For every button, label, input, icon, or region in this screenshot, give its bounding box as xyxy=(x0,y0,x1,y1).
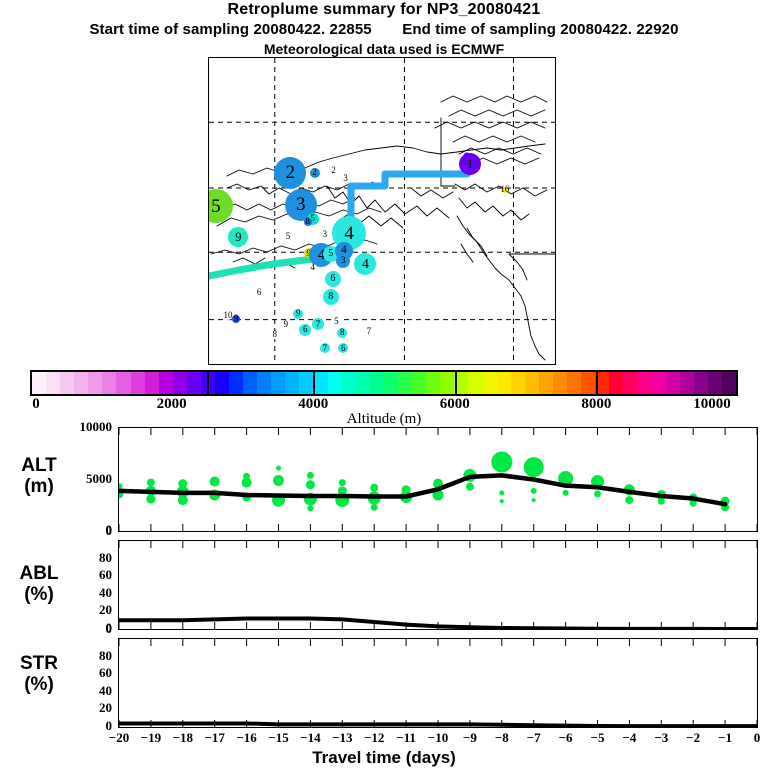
alt-scatter-dot xyxy=(147,479,155,487)
map-marker-1: 1 xyxy=(459,153,481,175)
map-marker-5: 5 xyxy=(282,230,294,242)
x-tick-label: −15 xyxy=(268,730,288,746)
colorbar-swatch-44 xyxy=(651,372,665,394)
x-axis-title: Travel time (days) xyxy=(0,748,768,768)
colorbar-swatch-49 xyxy=(722,372,736,394)
page-title: Retroplume summary for NP3_20080421 xyxy=(0,0,768,20)
alt-scatter-dot xyxy=(146,495,155,504)
sampling-times: Start time of sampling 20080422. 22855 E… xyxy=(0,20,768,40)
colorbar-swatch-17 xyxy=(271,372,285,394)
map-marker-label: 7 xyxy=(323,344,328,353)
map-marker-label: 3 xyxy=(343,174,348,183)
map-marker-5: 5 xyxy=(331,316,341,326)
x-tick-label: −2 xyxy=(686,730,700,746)
map-marker-label: 9 xyxy=(296,309,301,318)
alt-scatter-dot xyxy=(594,490,601,497)
abl-plot-panel[interactable] xyxy=(118,540,758,630)
colorbar-swatch-18 xyxy=(285,372,299,394)
y-tick-label: 60 xyxy=(64,567,112,583)
colorbar-swatch-8 xyxy=(145,372,159,394)
x-tick-label: −12 xyxy=(364,730,384,746)
map-marker-label: 5 xyxy=(286,232,291,241)
end-time-label: End time of sampling 20080422. 22920 xyxy=(402,21,678,38)
alt-scatter-dot xyxy=(371,504,378,511)
x-tick-label: −4 xyxy=(622,730,636,746)
colorbar-swatch-27 xyxy=(412,372,426,394)
alt-scatter-dot xyxy=(276,466,281,471)
map-marker-6: 6 xyxy=(299,324,311,336)
colorbar-divider xyxy=(313,370,315,396)
map-marker-2: 2 xyxy=(310,168,320,178)
colorbar-swatch-4 xyxy=(88,372,102,394)
colorbar-swatch-46 xyxy=(680,372,694,394)
map-marker-label: 2 xyxy=(312,168,317,177)
map-marker-label: 1 xyxy=(467,157,474,171)
map-marker-label: 7 xyxy=(367,327,372,336)
colorbar-swatch-25 xyxy=(384,372,398,394)
alt-scatter-dot xyxy=(625,496,633,504)
colorbar-swatch-20 xyxy=(314,372,328,394)
alt-scatter-dot xyxy=(307,505,313,511)
alt-scatter-dot xyxy=(499,490,504,495)
map-marker-label: 2 xyxy=(331,166,336,175)
alt-plot-svg xyxy=(119,428,757,531)
alt-scatter-dot xyxy=(532,498,536,502)
colorbar-swatch-9 xyxy=(159,372,173,394)
colorbar-swatch-13 xyxy=(215,372,229,394)
y-tick-label: 10000 xyxy=(64,419,112,435)
abl-axis-label: ABL (%) xyxy=(6,563,72,605)
y-tick-label: 40 xyxy=(64,683,112,699)
x-tick-label: −17 xyxy=(204,730,224,746)
map-marker-label: 8 xyxy=(340,328,345,337)
colorbar-divider xyxy=(207,370,209,396)
y-tick-label: 20 xyxy=(64,700,112,716)
map-coastline-svg xyxy=(209,58,555,364)
map-marker-label: 5 xyxy=(328,249,333,259)
colorbar-swatch-3 xyxy=(74,372,88,394)
x-tick-label: −18 xyxy=(173,730,193,746)
map-marker-label: 9 xyxy=(235,231,241,244)
colorbar-swatch-43 xyxy=(637,372,651,394)
map-marker-6: 6 xyxy=(325,271,341,287)
alt-scatter-dot xyxy=(306,480,315,489)
map-marker-label: 6 xyxy=(303,325,308,334)
colorbar-swatch-38 xyxy=(567,372,581,394)
map-marker-6: 6 xyxy=(255,289,263,297)
colorbar-swatch-45 xyxy=(666,372,680,394)
str-plot-svg xyxy=(119,639,757,727)
colorbar-swatch-32 xyxy=(483,372,497,394)
y-tick-label-top: 0 xyxy=(64,621,112,637)
map-marker-label: 5 xyxy=(334,317,339,326)
colorbar-swatch-23 xyxy=(356,372,370,394)
map-marker-4: 4 xyxy=(354,253,376,275)
x-tick-label: −1 xyxy=(718,730,732,746)
x-tick-label: −3 xyxy=(654,730,668,746)
colorbar-swatch-16 xyxy=(257,372,271,394)
map-marker-label: 16 xyxy=(500,185,509,194)
met-data-label: Meteorological data used is ECMWF xyxy=(0,40,768,58)
alt-scatter-dot xyxy=(531,488,537,494)
map-marker-label: 6 xyxy=(341,344,346,353)
str-plot-panel[interactable] xyxy=(118,638,758,728)
map-marker-6: 6 xyxy=(338,343,348,353)
alt-axis-label: ALT (m) xyxy=(6,455,72,497)
colorbar-swatch-2 xyxy=(60,372,74,394)
y-tick-label: 0 xyxy=(64,718,112,734)
map-marker-8: 8 xyxy=(337,328,347,338)
map-marker-label: 4 xyxy=(311,263,316,272)
colorbar-swatch-5 xyxy=(102,372,116,394)
start-time-label: Start time of sampling 20080422. 22855 xyxy=(89,21,371,38)
alt-scatter-dot xyxy=(242,478,252,488)
colorbar-swatch-37 xyxy=(553,372,567,394)
colorbar-swatch-0 xyxy=(32,372,46,394)
x-tick-label: −9 xyxy=(463,730,477,746)
map-marker-16: 16 xyxy=(502,187,508,193)
alt-scatter-dot xyxy=(524,457,544,477)
colorbar-swatch-19 xyxy=(299,372,313,394)
alt-scatter-dot xyxy=(178,495,188,505)
map-marker-8: 8 xyxy=(304,218,312,226)
y-tick-label: 40 xyxy=(64,585,112,601)
map-marker-2: 2 xyxy=(328,165,340,177)
map-gridlines xyxy=(209,58,555,364)
map-marker-3: 3 xyxy=(336,254,350,268)
map-marker-label: 4 xyxy=(362,257,369,271)
x-tick-label: −6 xyxy=(559,730,573,746)
map-marker-9: 9 xyxy=(282,321,290,329)
map-marker-label: 3 xyxy=(296,195,306,214)
colorbar-divider xyxy=(596,370,598,396)
map-marker-label: 5 xyxy=(211,197,221,216)
alt-scatter-dot xyxy=(491,451,512,472)
y-tick-label: 80 xyxy=(64,648,112,664)
alt-scatter-dot xyxy=(307,472,314,479)
colorbar-swatch-31 xyxy=(468,372,482,394)
map-marker-7: 7 xyxy=(312,318,324,330)
map-marker-label: 8 xyxy=(328,292,333,302)
x-tick-label: −5 xyxy=(591,730,605,746)
map-marker-9: 9 xyxy=(228,227,248,247)
map-marker-7: 7 xyxy=(320,343,330,353)
map-marker-label: 8 xyxy=(305,217,310,226)
x-tick-label: 0 xyxy=(754,730,761,746)
colorbar-swatch-6 xyxy=(116,372,130,394)
map-marker-8: 8 xyxy=(323,289,339,305)
x-tick-label: −11 xyxy=(396,730,416,746)
colorbar-swatch-28 xyxy=(426,372,440,394)
alt-plot-panel[interactable] xyxy=(118,427,758,532)
alt-scatter-dot xyxy=(273,475,284,486)
colorbar-swatch-41 xyxy=(609,372,623,394)
map-marker-label: 4 xyxy=(344,224,354,243)
map-marker-9: 9 xyxy=(232,315,240,323)
abl-plot-svg xyxy=(119,541,757,629)
colorbar-swatch-26 xyxy=(398,372,412,394)
colorbar-swatch-10 xyxy=(173,372,187,394)
colorbar-swatch-35 xyxy=(525,372,539,394)
colorbar-swatch-47 xyxy=(694,372,708,394)
colorbar-swatch-33 xyxy=(497,372,511,394)
colorbar-swatch-42 xyxy=(623,372,637,394)
colorbar-swatch-15 xyxy=(243,372,257,394)
figure-header: Retroplume summary for NP3_20080421 Star… xyxy=(0,0,768,58)
x-tick-label: −19 xyxy=(141,730,161,746)
x-tick-label: −13 xyxy=(332,730,352,746)
map-marker-3: 3 xyxy=(319,229,331,241)
colorbar-swatch-34 xyxy=(511,372,525,394)
colorbar-swatch-22 xyxy=(342,372,356,394)
x-tick-label: −16 xyxy=(236,730,256,746)
x-tick-label: −20 xyxy=(109,730,129,746)
y-tick-label: 5000 xyxy=(64,471,112,487)
colorbar-swatch-1 xyxy=(46,372,60,394)
retroplume-summary-figure: Retroplume summary for NP3_20080421 Star… xyxy=(0,0,768,768)
colorbar-swatch-7 xyxy=(131,372,145,394)
x-tick-label: −10 xyxy=(428,730,448,746)
map-marker-label: 8 xyxy=(272,330,277,339)
map-marker-label: 6 xyxy=(257,288,262,297)
y-tick-label: 80 xyxy=(64,550,112,566)
y-tick-label-top: 0 xyxy=(64,523,112,539)
x-tick-label: −14 xyxy=(300,730,320,746)
colorbar-divider xyxy=(455,370,457,396)
map-marker-7: 7 xyxy=(365,328,373,336)
map-marker-9: 9 xyxy=(293,309,303,319)
map-marker-2: 2 xyxy=(274,157,306,189)
map-marker-4: 4 xyxy=(309,264,317,272)
alt-scatter-dot xyxy=(370,484,378,492)
altitude-colorbar[interactable] xyxy=(30,370,738,396)
colorbar-swatch-29 xyxy=(440,372,454,394)
map-marker-label: 3 xyxy=(341,256,346,265)
alt-scatter-dot xyxy=(466,483,474,491)
retroplume-map[interactable]: 12223358595349454344686109996758877616 xyxy=(208,57,556,365)
colorbar-title: Altitude (m) xyxy=(0,411,768,428)
map-marker-label: 9 xyxy=(234,314,239,323)
x-tick-label: −8 xyxy=(495,730,509,746)
str-axis-label: STR (%) xyxy=(6,653,72,695)
map-marker-3: 3 xyxy=(341,174,351,184)
map-marker-label: 7 xyxy=(316,320,321,329)
colorbar-swatch-48 xyxy=(708,372,722,394)
colorbar-swatch-39 xyxy=(581,372,595,394)
y-tick-label: 60 xyxy=(64,665,112,681)
x-tick-label: −7 xyxy=(527,730,541,746)
colorbar-swatch-36 xyxy=(539,372,553,394)
map-marker-label: 6 xyxy=(330,274,335,284)
map-marker-8: 8 xyxy=(271,331,279,339)
alt-scatter-dot xyxy=(563,490,569,496)
alt-scatter-dot xyxy=(210,477,220,487)
colorbar-gradient xyxy=(30,370,738,396)
coastline-paths xyxy=(211,96,555,360)
colorbar-swatch-11 xyxy=(187,372,201,394)
map-marker-label: 2 xyxy=(286,163,296,182)
alt-scatter-dot xyxy=(658,498,665,505)
alt-scatter-dot xyxy=(339,479,346,486)
alt-scatter-dot xyxy=(500,499,504,503)
map-marker-label: 9 xyxy=(284,320,289,329)
colorbar-swatch-14 xyxy=(229,372,243,394)
map-marker-label: 3 xyxy=(323,230,328,239)
y-tick-label: 20 xyxy=(64,602,112,618)
colorbar-swatch-24 xyxy=(370,372,384,394)
colorbar-swatch-21 xyxy=(328,372,342,394)
